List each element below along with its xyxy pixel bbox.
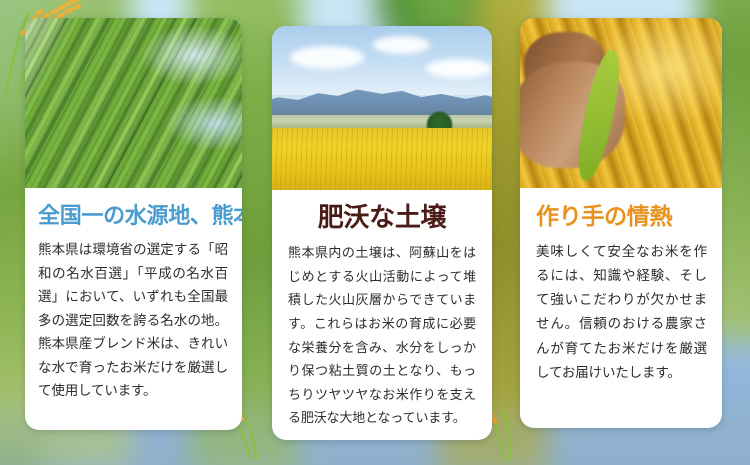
card-image-water-source bbox=[25, 18, 242, 188]
card-title: 肥沃な土壌 bbox=[288, 204, 476, 234]
card-description: 美味しくて安全なお米を作るには、知識や経験、そして強いこだわりが欠かせません。信… bbox=[536, 240, 707, 384]
card-title: 全国一の水源地、熊本 bbox=[38, 204, 228, 229]
card-image-growers-passion bbox=[520, 18, 722, 188]
card-body: 全国一の水源地、熊本 熊本県は環境省の選定する「昭和の名水百選」「平成の名水百選… bbox=[25, 188, 242, 430]
feature-card-water-source[interactable]: 全国一の水源地、熊本 熊本県は環境省の選定する「昭和の名水百選」「平成の名水百選… bbox=[25, 18, 242, 430]
card-title: 作り手の情熱 bbox=[536, 204, 707, 230]
card-body: 作り手の情熱 美味しくて安全なお米を作るには、知識や経験、そして強いこだわりが欠… bbox=[520, 188, 722, 428]
card-image-fertile-soil bbox=[272, 26, 492, 190]
page-stage: 全国一の水源地、熊本 熊本県は環境省の選定する「昭和の名水百選」「平成の名水百選… bbox=[0, 0, 750, 465]
card-body: 肥沃な土壌 熊本県内の土壌は、阿蘇山をはじめとする火山活動によって堆積した火山灰… bbox=[272, 190, 492, 440]
feature-card-fertile-soil[interactable]: 肥沃な土壌 熊本県内の土壌は、阿蘇山をはじめとする火山活動によって堆積した火山灰… bbox=[272, 26, 492, 440]
feature-card-growers-passion[interactable]: 作り手の情熱 美味しくて安全なお米を作るには、知識や経験、そして強いこだわりが欠… bbox=[520, 18, 722, 428]
card-description: 熊本県内の土壌は、阿蘇山をはじめとする火山活動によって堆積した火山灰層からできて… bbox=[288, 242, 476, 431]
card-description: 熊本県は環境省の選定する「昭和の名水百選」「平成の名水百選」において、いずれも全… bbox=[38, 239, 228, 403]
